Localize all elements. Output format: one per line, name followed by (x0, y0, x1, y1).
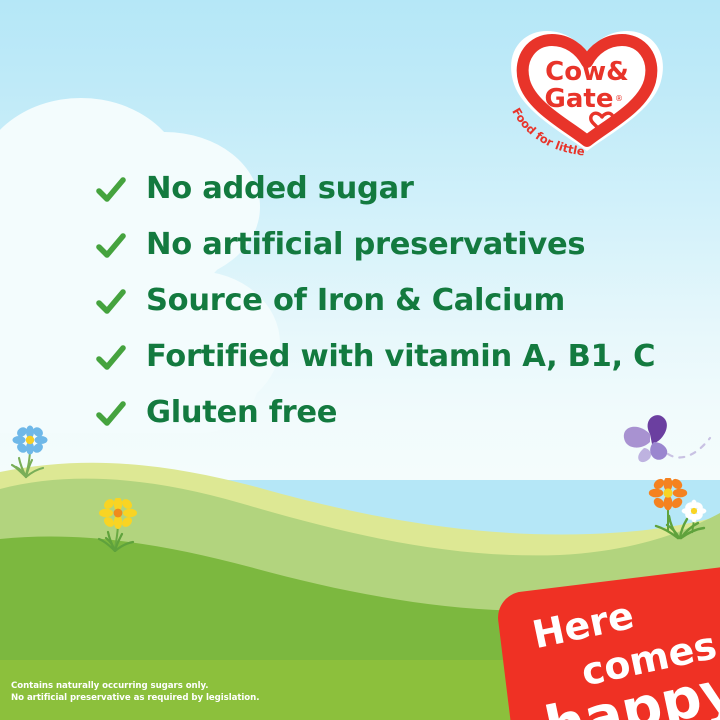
flower-yellow (96, 498, 142, 552)
check-icon (94, 228, 128, 262)
check-icon (94, 340, 128, 374)
disclaimer-line-2: No artificial preservative as required b… (11, 693, 259, 705)
advertisement-canvas: Cow& Gate ® Food for little ones No adde… (0, 0, 720, 720)
benefit-label: Gluten free (146, 398, 337, 429)
list-item: No added sugar (94, 162, 694, 216)
flower-group-right (648, 478, 714, 540)
logo-name-line-2: Gate (545, 84, 614, 114)
list-item: Gluten free (94, 386, 694, 440)
benefit-label: Fortified with vitamin A, B1, C (146, 342, 655, 373)
benefit-label: No added sugar (146, 174, 414, 205)
list-item: Fortified with vitamin A, B1, C (94, 330, 694, 384)
flower-orange (649, 478, 687, 532)
flower-blue-daisy (8, 425, 54, 479)
butterfly-purple (612, 404, 716, 478)
list-item: Source of Iron & Calcium (94, 274, 694, 328)
check-icon (94, 284, 128, 318)
benefit-label: No artificial preservatives (146, 230, 585, 261)
logo-registered-mark: ® (615, 94, 623, 103)
check-icon (94, 172, 128, 206)
logo-name-line-1: Cow& (545, 57, 629, 87)
butterfly-trail-icon (668, 438, 710, 457)
cow-and-gate-logo: Cow& Gate ® Food for little ones (497, 25, 677, 157)
list-item: No artificial preservatives (94, 218, 694, 272)
benefits-list: No added sugar No artificial preservativ… (94, 162, 694, 442)
benefit-label: Source of Iron & Calcium (146, 286, 565, 317)
disclaimer-text: Contains naturally occurring sugars only… (11, 681, 259, 704)
check-icon (94, 396, 128, 430)
disclaimer-line-1: Contains naturally occurring sugars only… (11, 681, 259, 693)
